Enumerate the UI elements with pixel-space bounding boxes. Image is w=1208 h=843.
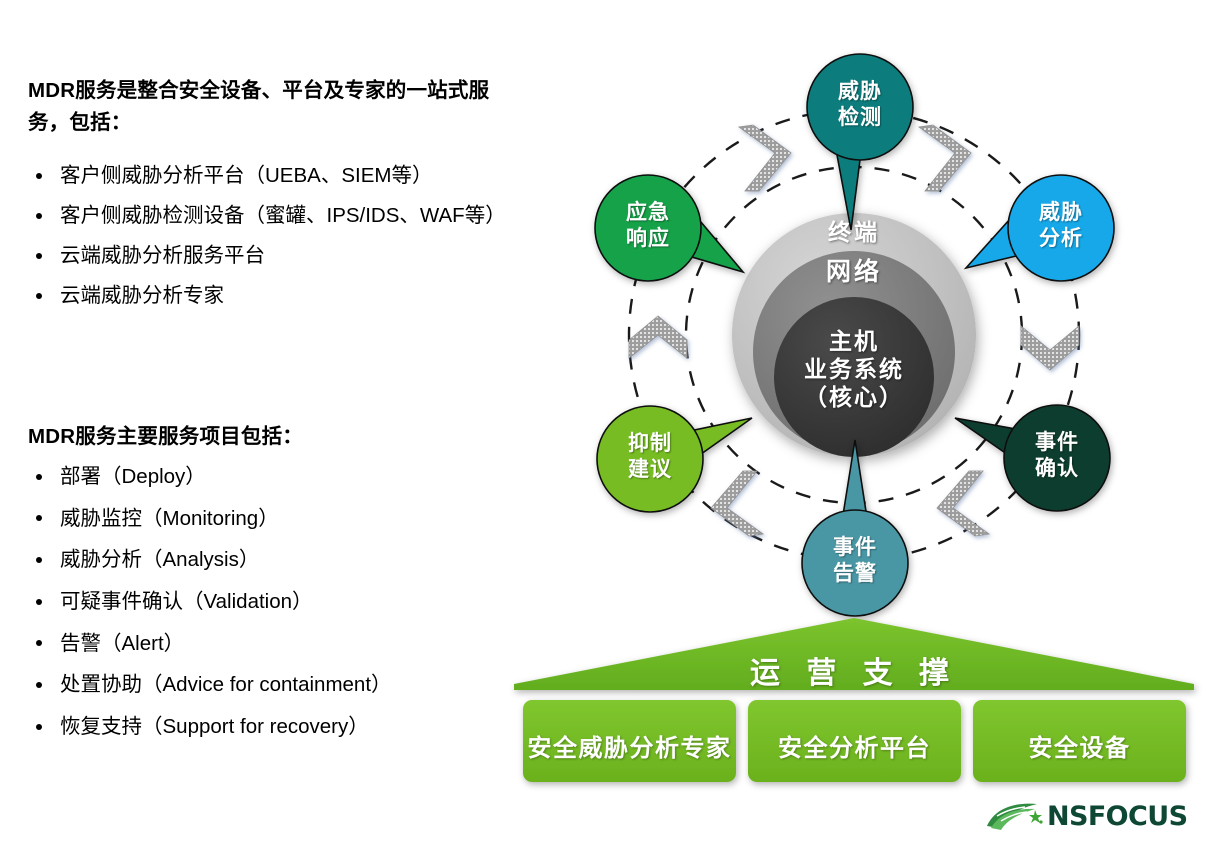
list-item: 部署（Deploy）	[28, 461, 528, 492]
list-item-label: 威胁分析（Analysis）	[60, 544, 528, 575]
bullet-dot-icon	[36, 557, 42, 563]
list-item: 告警（Alert）	[28, 628, 528, 659]
list-item-label: 客户侧威胁分析平台（UEBA、SIEM等）	[60, 160, 528, 191]
nsfocus-swoosh-icon	[985, 800, 1045, 834]
bullet-dot-icon	[36, 213, 42, 219]
list-item-label: 客户侧威胁检测设备（蜜罐、IPS/IDS、WAF等）	[60, 200, 528, 231]
bullet-dot-icon	[36, 640, 42, 646]
nsfocus-logo: NSFOCUS	[985, 798, 1185, 836]
chevron-arrow-icon	[711, 471, 763, 536]
bullet-dot-icon	[36, 173, 42, 179]
list-item-label: 可疑事件确认（Validation）	[60, 586, 528, 617]
list-item-label: 云端威胁分析服务平台	[60, 240, 528, 271]
bullet-dot-icon	[36, 474, 42, 480]
heading-mdr-service-definition: MDR服务是整合安全设备、平台及专家的一站式服务，包括：	[28, 75, 528, 139]
list-item: 客户侧威胁分析平台（UEBA、SIEM等）	[28, 160, 528, 191]
bubble-emergency-response[interactable]	[595, 175, 743, 281]
list-mdr-service-items: 部署（Deploy） 威胁监控（Monitoring） 威胁分析（Analysi…	[28, 461, 528, 753]
list-item: 威胁监控（Monitoring）	[28, 503, 528, 534]
bullet-dot-icon	[36, 724, 42, 730]
list-item-label: 告警（Alert）	[60, 628, 528, 659]
list-item: 云端威胁分析专家	[28, 280, 528, 311]
operations-support-roof	[514, 618, 1194, 690]
bullet-dot-icon	[36, 599, 42, 605]
chevron-arrow-icon	[629, 316, 687, 358]
footer-box[interactable]	[748, 700, 961, 782]
chevron-arrow-icon	[739, 125, 791, 191]
bullet-dot-icon	[36, 253, 42, 259]
list-item: 云端威胁分析服务平台	[28, 240, 528, 271]
bubble-event-validation[interactable]	[955, 405, 1110, 511]
bullet-dot-icon	[36, 293, 42, 299]
list-item-label: 威胁监控（Monitoring）	[60, 503, 528, 534]
footer-box[interactable]	[973, 700, 1186, 782]
nsfocus-wordmark: NSFOCUS	[1047, 801, 1187, 832]
chevron-arrow-icon	[1021, 326, 1079, 370]
list-item-label: 部署（Deploy）	[60, 461, 528, 492]
mdr-cycle-diagram: 终端 网络 主机 业务系统 （核心） 威胁 检测 威胁 分析 事件 确认 事件 …	[500, 0, 1208, 843]
list-item-label: 云端威胁分析专家	[60, 280, 528, 311]
chevron-arrow-icon	[919, 125, 971, 191]
ring-inner-host-core	[774, 297, 934, 457]
list-item: 恢复支持（Support for recovery）	[28, 711, 528, 742]
bullet-dot-icon	[36, 515, 42, 521]
diagram-canvas	[500, 0, 1208, 843]
list-item: 处置协助（Advice for containment）	[28, 669, 528, 700]
list-mdr-components: 客户侧威胁分析平台（UEBA、SIEM等） 客户侧威胁检测设备（蜜罐、IPS/I…	[28, 160, 528, 321]
list-item: 威胁分析（Analysis）	[28, 544, 528, 575]
list-item: 可疑事件确认（Validation）	[28, 586, 528, 617]
bubble-threat-analysis[interactable]	[966, 175, 1114, 281]
list-item-label: 处置协助（Advice for containment）	[60, 669, 528, 700]
footer-box[interactable]	[523, 700, 736, 782]
heading-mdr-service-items: MDR服务主要服务项目包括：	[28, 421, 528, 453]
left-text-panel: MDR服务是整合安全设备、平台及专家的一站式服务，包括： 客户侧威胁分析平台（U…	[0, 0, 540, 843]
list-item-label: 恢复支持（Support for recovery）	[60, 711, 528, 742]
bubble-threat-detection[interactable]	[807, 54, 913, 230]
list-item: 客户侧威胁检测设备（蜜罐、IPS/IDS、WAF等）	[28, 200, 528, 231]
bubble-event-alert[interactable]	[802, 440, 908, 616]
bullet-dot-icon	[36, 682, 42, 688]
chevron-arrow-icon	[937, 471, 989, 536]
